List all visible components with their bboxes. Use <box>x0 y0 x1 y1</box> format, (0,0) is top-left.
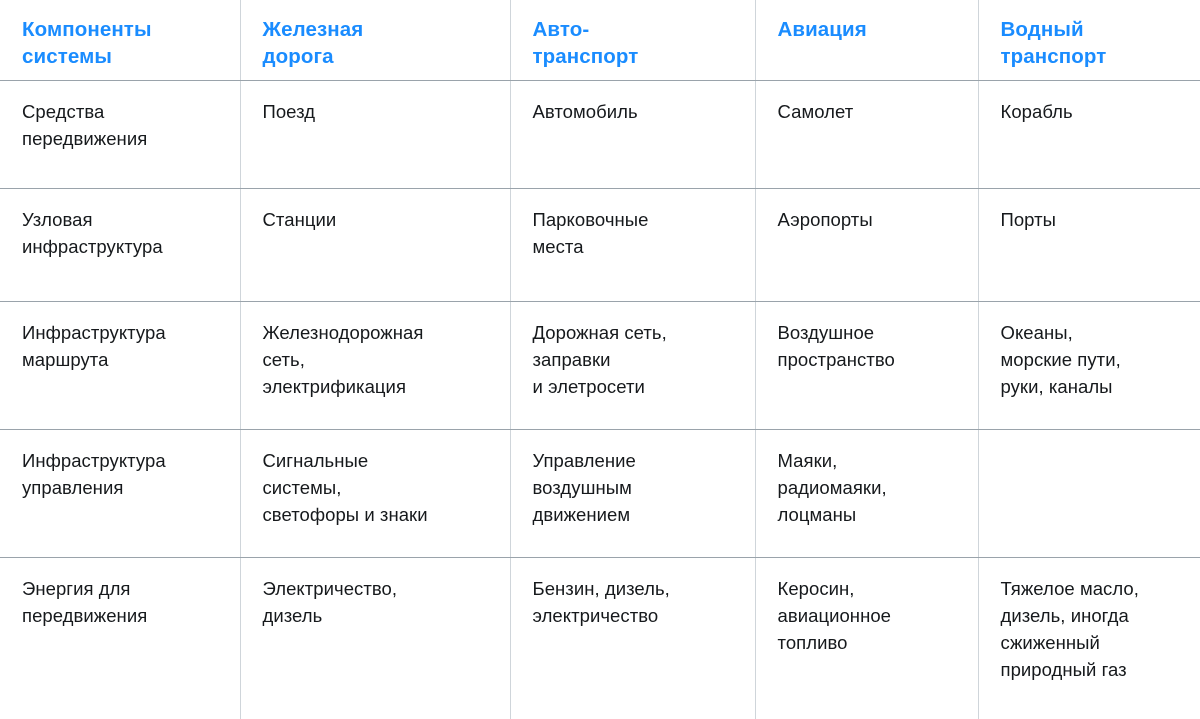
table-cell: Управление воздушным движением <box>510 430 755 558</box>
cell-text: Автомобиль <box>533 99 733 126</box>
table-cell: Океаны, морские пути, руки, каналы <box>978 302 1200 430</box>
table-cell: Станции <box>240 189 510 302</box>
table-row: Энергия для передвижения Электричество, … <box>0 558 1200 719</box>
cell-text: Станции <box>263 207 488 234</box>
header-text: Водный транспорт <box>1001 16 1179 70</box>
cell-text: Маяки, радиомаяки, лоцманы <box>778 448 956 528</box>
table-cell: Корабль <box>978 81 1200 189</box>
cell-text: Порты <box>1001 207 1179 234</box>
cell-text: Воздушное пространство <box>778 320 956 374</box>
table-cell-empty <box>978 430 1200 558</box>
header-text: Железная дорога <box>263 16 488 70</box>
table-header: Компоненты системы Железная дорога Авто-… <box>0 0 1200 81</box>
cell-text: Средства передвижения <box>22 99 218 153</box>
table-body: Средства передвижения Поезд Автомобиль С… <box>0 81 1200 719</box>
cell-text: Электричество, дизель <box>263 576 488 630</box>
table-cell-label: Инфраструктура управления <box>0 430 240 558</box>
cell-text: Бензин, дизель, электричество <box>533 576 733 630</box>
table-row: Средства передвижения Поезд Автомобиль С… <box>0 81 1200 189</box>
cell-text: Поезд <box>263 99 488 126</box>
column-header-system-components: Компоненты системы <box>0 0 240 81</box>
column-header-water-transport: Водный транспорт <box>978 0 1200 81</box>
table-row: Инфраструктура маршрута Железнодорожная … <box>0 302 1200 430</box>
cell-text: Дорожная сеть, заправки и элетросети <box>533 320 733 400</box>
table-row: Узловая инфраструктура Станции Парковочн… <box>0 189 1200 302</box>
cell-text: Инфраструктура маршрута <box>22 320 218 374</box>
column-header-aviation: Авиация <box>755 0 978 81</box>
table-row: Инфраструктура управления Сигнальные сис… <box>0 430 1200 558</box>
cell-text: Железнодорожная сеть, электрификация <box>263 320 488 400</box>
table-cell: Самолет <box>755 81 978 189</box>
cell-text: Керосин, авиационное топливо <box>778 576 956 656</box>
table-cell: Электричество, дизель <box>240 558 510 719</box>
header-text: Авто- транспорт <box>533 16 733 70</box>
cell-text: Тяжелое масло, дизель, иногда сжиженный … <box>1001 576 1179 683</box>
table-cell-label: Энергия для передвижения <box>0 558 240 719</box>
table-cell: Маяки, радиомаяки, лоцманы <box>755 430 978 558</box>
cell-text: Самолет <box>778 99 956 126</box>
table-cell: Порты <box>978 189 1200 302</box>
transport-comparison-table: Компоненты системы Железная дорога Авто-… <box>0 0 1200 719</box>
cell-text: Узловая инфраструктура <box>22 207 218 261</box>
cell-text: Океаны, морские пути, руки, каналы <box>1001 320 1179 400</box>
header-text: Авиация <box>778 16 956 43</box>
header-text: Компоненты системы <box>22 16 218 70</box>
table-cell-label: Узловая инфраструктура <box>0 189 240 302</box>
table-cell: Воздушное пространство <box>755 302 978 430</box>
table-cell: Парковочные места <box>510 189 755 302</box>
cell-text: Аэропорты <box>778 207 956 234</box>
table-cell: Тяжелое масло, дизель, иногда сжиженный … <box>978 558 1200 719</box>
table-cell: Дорожная сеть, заправки и элетросети <box>510 302 755 430</box>
column-header-road-transport: Авто- транспорт <box>510 0 755 81</box>
cell-text: Корабль <box>1001 99 1179 126</box>
table-cell-label: Инфраструктура маршрута <box>0 302 240 430</box>
cell-text: Инфраструктура управления <box>22 448 218 502</box>
table-cell: Сигнальные системы, светофоры и знаки <box>240 430 510 558</box>
table-cell: Бензин, дизель, электричество <box>510 558 755 719</box>
cell-text: Энергия для передвижения <box>22 576 218 630</box>
cell-text: Парковочные места <box>533 207 733 261</box>
table-cell: Аэропорты <box>755 189 978 302</box>
cell-text: Управление воздушным движением <box>533 448 733 528</box>
cell-text: Сигнальные системы, светофоры и знаки <box>263 448 488 528</box>
table-cell-label: Средства передвижения <box>0 81 240 189</box>
table-cell: Керосин, авиационное топливо <box>755 558 978 719</box>
table-cell: Поезд <box>240 81 510 189</box>
table-cell: Автомобиль <box>510 81 755 189</box>
table-cell: Железнодорожная сеть, электрификация <box>240 302 510 430</box>
header-row: Компоненты системы Железная дорога Авто-… <box>0 0 1200 81</box>
column-header-railway: Железная дорога <box>240 0 510 81</box>
